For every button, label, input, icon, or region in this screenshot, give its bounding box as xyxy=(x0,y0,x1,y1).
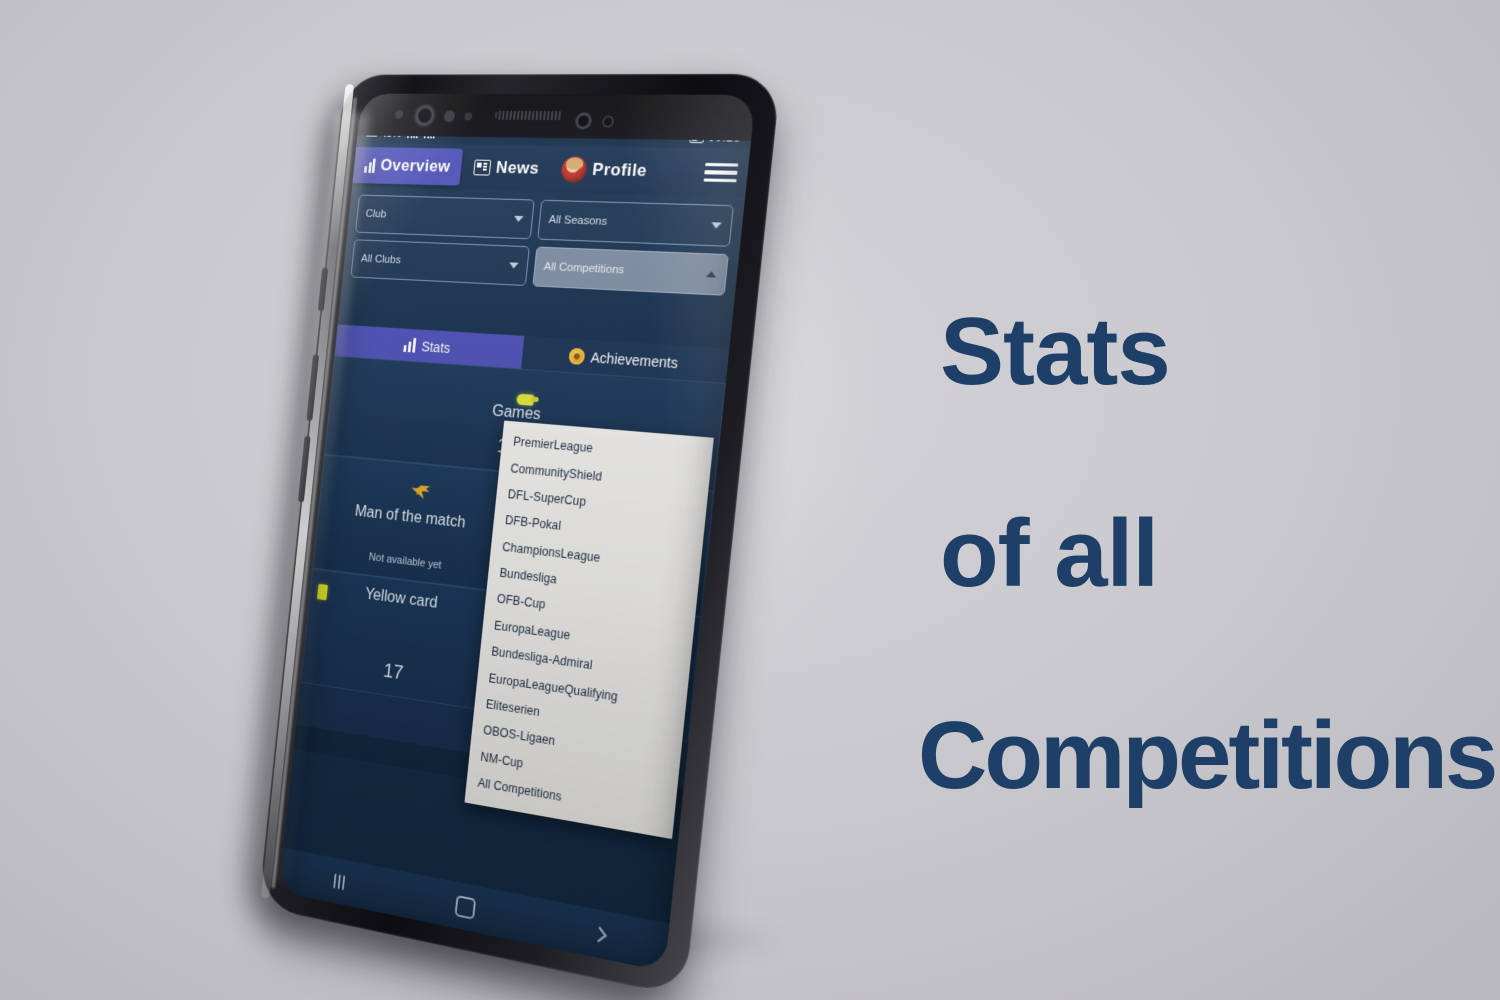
tab-stats-label: Stats xyxy=(421,338,451,355)
promo-headline: Stats of all Competitions xyxy=(940,205,1470,902)
star-icon xyxy=(411,483,427,499)
proximity-sensor-icon xyxy=(464,112,472,120)
phone-top-bezel xyxy=(357,94,755,141)
tab-overview-label: Overview xyxy=(379,156,451,177)
medal-icon xyxy=(568,347,585,364)
filter-bar: Club All Seasons All Clubs All Competiti… xyxy=(342,187,745,301)
competition-select[interactable]: All Competitions xyxy=(532,247,729,296)
stat-card-man-of-the-match[interactable]: Man of the match Not available yet xyxy=(312,455,510,592)
iris-scanner-icon xyxy=(443,110,455,122)
earpiece-speaker-icon xyxy=(495,111,563,120)
stat-card-motm-title: Man of the match xyxy=(354,503,466,533)
tab-achievements-label: Achievements xyxy=(590,349,679,371)
tab-profile-label: Profile xyxy=(591,160,648,181)
stat-card-motm-value: Not available yet xyxy=(368,551,442,571)
home-icon[interactable] xyxy=(455,895,477,920)
headline-line-2: of all xyxy=(940,505,1470,603)
tab-profile[interactable]: Profile xyxy=(548,150,661,191)
newspaper-icon xyxy=(473,160,491,176)
avatar xyxy=(560,156,588,183)
all-clubs-select-value: All Clubs xyxy=(360,253,401,266)
headline-line-3: Competitions xyxy=(918,707,1470,805)
chevron-down-icon xyxy=(509,262,519,268)
bar-chart-icon xyxy=(364,158,376,173)
tab-news[interactable]: News xyxy=(461,149,552,188)
chevron-down-icon xyxy=(711,222,722,229)
competition-select-value: All Competitions xyxy=(543,261,624,277)
all-clubs-select[interactable]: All Clubs xyxy=(350,239,529,286)
phone-mockup: 45% 4G+ 00:28 Overview News xyxy=(258,74,781,997)
front-camera-icon xyxy=(414,105,435,125)
stat-card-yellow-title: Yellow card xyxy=(364,586,438,613)
whistle-icon xyxy=(516,394,534,406)
competition-dropdown-list[interactable]: PremierLeague CommunityShield DFL-SuperC… xyxy=(464,421,713,840)
hamburger-menu-icon[interactable] xyxy=(701,158,741,187)
led-indicator-icon xyxy=(602,116,615,128)
back-icon[interactable] xyxy=(592,926,607,942)
recents-icon[interactable] xyxy=(333,873,345,890)
secondary-camera-icon xyxy=(574,112,592,129)
tab-news-label: News xyxy=(495,158,540,179)
tab-overview[interactable]: Overview xyxy=(352,147,463,186)
sensor-dot-icon xyxy=(395,110,404,119)
headline-line-1: Stats xyxy=(940,303,1470,401)
chevron-down-icon xyxy=(514,216,524,222)
chevron-up-icon xyxy=(706,271,717,278)
season-select-value: All Seasons xyxy=(548,214,608,228)
club-select-value: Club xyxy=(365,208,387,220)
yellow-card-icon xyxy=(317,584,328,600)
stat-card-yellow-value: 17 xyxy=(382,660,404,685)
bar-chart-icon xyxy=(404,337,416,352)
club-select[interactable]: Club xyxy=(355,195,535,240)
season-select[interactable]: All Seasons xyxy=(537,200,734,247)
